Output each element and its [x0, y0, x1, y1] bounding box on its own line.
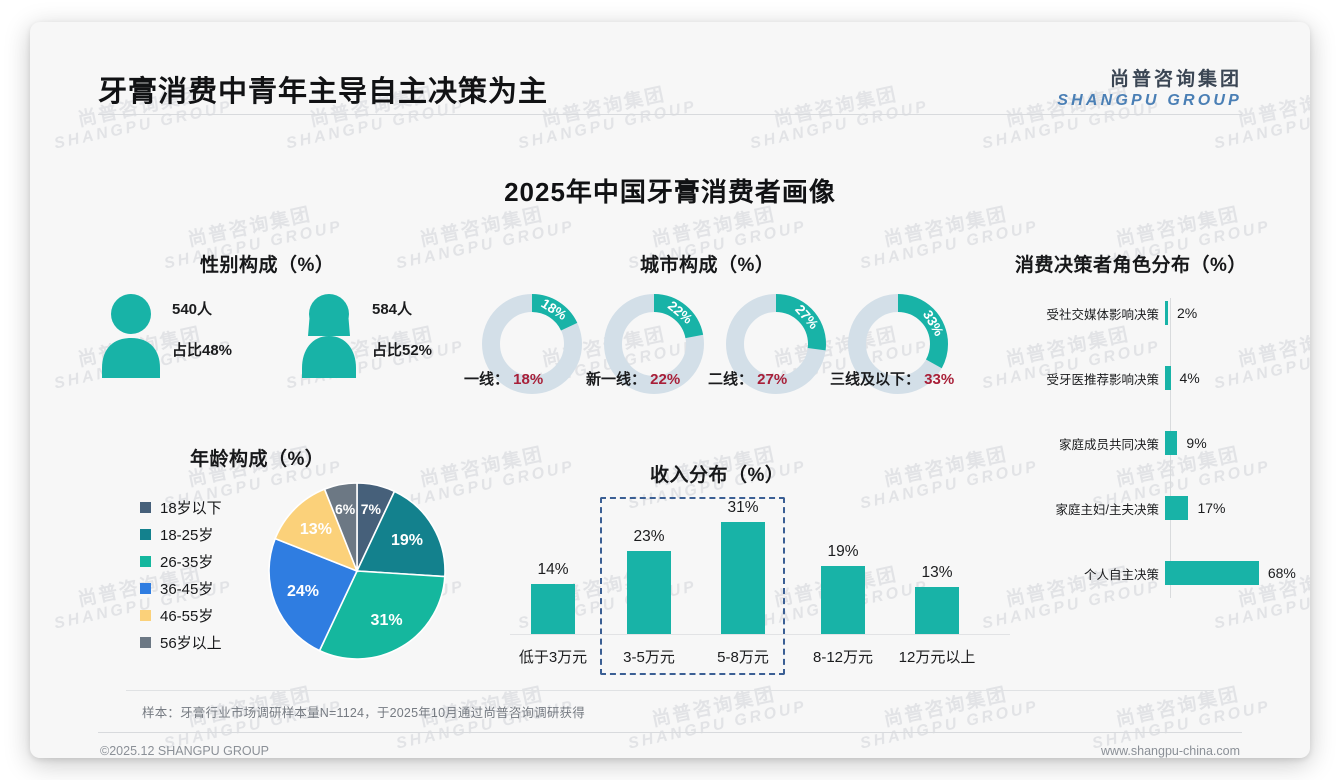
note-divider: [126, 690, 1214, 691]
role-value: 9%: [1186, 435, 1206, 451]
role-bar: [1165, 431, 1177, 455]
age-legend-item[interactable]: 36-45岁: [140, 575, 222, 602]
income-distribution-section: 收入分布（%） 14%低于3万元23%3-5万元31%5-8万元19%8-12万…: [485, 452, 1025, 687]
role-value: 68%: [1268, 565, 1296, 581]
legend-label: 18-25岁: [160, 524, 213, 545]
age-legend: 18岁以下18-25岁26-35岁36-45岁46-55岁56岁以上: [140, 494, 222, 656]
income-bar-category: 8-12万元: [793, 646, 893, 667]
city-percent: 27%: [753, 371, 787, 388]
legend-color-swatch: [140, 529, 151, 540]
website-link[interactable]: www.shangpu-china.com: [1101, 744, 1240, 758]
role-value: 17%: [1197, 500, 1225, 516]
income-baseline: [510, 634, 1010, 635]
copyright-text: ©2025.12 SHANGPU GROUP: [100, 744, 269, 758]
income-bar: [721, 522, 765, 634]
city-name: 三线及以下：: [830, 371, 920, 388]
sample-note: 样本：牙膏行业市场调研样本量N=1124，于2025年10月通过尚普咨询调研获得: [142, 702, 585, 721]
income-bar-value: 31%: [697, 499, 789, 517]
chart-subtitle: 2025年中国牙膏消费者画像: [30, 172, 1310, 209]
income-section-title: 收入分布（%）: [650, 460, 784, 487]
income-bar-column[interactable]: 31%: [697, 499, 789, 634]
city-donut-caption: 三线及以下： 33%: [830, 368, 954, 389]
city-donut-caption: 一线： 18%: [464, 368, 543, 389]
city-donut-caption: 新一线： 22%: [586, 368, 680, 389]
pie-slice-label: 13%: [300, 521, 332, 539]
age-composition-section: 年龄构成（%） 18岁以下18-25岁26-35岁36-45岁46-55岁56岁…: [100, 434, 480, 684]
city-percent: 18%: [509, 371, 543, 388]
age-legend-item[interactable]: 56岁以上: [140, 629, 222, 656]
income-bar-category: 5-8万元: [693, 646, 793, 667]
income-bar-value: 23%: [603, 528, 695, 546]
income-bar-value: 13%: [891, 564, 983, 582]
watermark: 尚普咨询集团SHANGPU GROUP: [1086, 674, 1273, 754]
gender-composition-section: 性别构成（%） 540人 占比48% 584人 占比52%: [100, 250, 460, 390]
income-bar-value: 14%: [507, 561, 599, 579]
role-bar: [1165, 366, 1171, 390]
income-bar: [627, 551, 671, 634]
male-stats: 540人 占比48%: [172, 298, 232, 360]
role-bar-row[interactable]: 个人自主决策68%: [1005, 560, 1305, 586]
role-label: 受社交媒体影响决策: [1005, 304, 1165, 323]
city-percent: 22%: [646, 371, 680, 388]
legend-color-swatch: [140, 502, 151, 513]
logo-english-text: SHANGPU GROUP: [1057, 92, 1242, 110]
income-bar-value: 19%: [797, 543, 889, 561]
role-bar-row[interactable]: 家庭主妇/主夫决策17%: [1005, 495, 1305, 521]
female-count: 584人: [372, 298, 432, 319]
legend-color-swatch: [140, 610, 151, 621]
city-donut-caption: 二线： 27%: [708, 368, 787, 389]
role-bar-row[interactable]: 受社交媒体影响决策2%: [1005, 300, 1305, 326]
role-bar: [1165, 301, 1168, 325]
slide-header: 牙膏消费中青年主导自主决策为主 尚普咨询集团 SHANGPU GROUP: [30, 22, 1310, 114]
age-pie-chart: 7%19%31%24%13%6%: [268, 482, 446, 665]
male-share: 占比48%: [172, 339, 232, 360]
footer-divider: [98, 732, 1242, 733]
role-label: 家庭成员共同决策: [1005, 434, 1165, 453]
city-name: 二线：: [708, 371, 753, 388]
age-legend-item[interactable]: 46-55岁: [140, 602, 222, 629]
income-bar-category: 低于3万元: [503, 646, 603, 667]
legend-label: 26-35岁: [160, 551, 213, 572]
income-bar: [821, 566, 865, 634]
role-value: 2%: [1177, 305, 1197, 321]
role-bar-row[interactable]: 受牙医推荐影响决策4%: [1005, 365, 1305, 391]
header-divider: [98, 114, 1242, 115]
income-bar-column[interactable]: 13%: [891, 564, 983, 634]
income-bar: [531, 584, 575, 634]
role-bar: [1165, 496, 1188, 520]
income-bar-column[interactable]: 19%: [797, 543, 889, 634]
age-legend-item[interactable]: 18岁以下: [140, 494, 222, 521]
role-label: 家庭主妇/主夫决策: [1005, 499, 1165, 518]
role-bar: [1165, 561, 1259, 585]
income-bar: [915, 587, 959, 634]
pie-slice-label: 7%: [361, 501, 381, 517]
role-bar-row[interactable]: 家庭成员共同决策9%: [1005, 430, 1305, 456]
brand-logo: 尚普咨询集团 SHANGPU GROUP: [1057, 64, 1242, 110]
legend-color-swatch: [140, 556, 151, 567]
male-count: 540人: [172, 298, 232, 319]
decision-role-section: 消费决策者角色分布（%） 受社交媒体影响决策2%受牙医推荐影响决策4%家庭成员共…: [1005, 250, 1305, 600]
gender-section-title: 性别构成（%）: [200, 250, 334, 277]
role-value: 4%: [1180, 370, 1200, 386]
city-percent: 33%: [920, 371, 954, 388]
female-person-icon: [296, 292, 362, 380]
male-person-icon: [100, 292, 162, 380]
pie-slice-label: 24%: [287, 583, 319, 601]
slide-page: 尚普咨询集团SHANGPU GROUP尚普咨询集团SHANGPU GROUP尚普…: [30, 22, 1310, 758]
legend-label: 36-45岁: [160, 578, 213, 599]
city-composition-section: 城市构成（%） 18%一线： 18%22%新一线： 22%27%二线： 27%3…: [460, 250, 1020, 395]
page-title: 牙膏消费中青年主导自主决策为主: [98, 68, 548, 110]
age-legend-item[interactable]: 26-35岁: [140, 548, 222, 575]
female-stats: 584人 占比52%: [372, 298, 432, 360]
pie-slice-label: 31%: [371, 612, 403, 630]
age-section-title: 年龄构成（%）: [190, 444, 324, 471]
income-bar-column[interactable]: 23%: [603, 528, 695, 634]
income-bar-column[interactable]: 14%: [507, 561, 599, 634]
legend-label: 56岁以上: [160, 632, 222, 653]
role-section-title: 消费决策者角色分布（%）: [1015, 250, 1247, 277]
income-bar-category: 3-5万元: [599, 646, 699, 667]
logo-chinese-text: 尚普咨询集团: [1057, 64, 1242, 91]
pie-slice-label: 19%: [391, 532, 423, 550]
city-name: 新一线：: [586, 371, 646, 388]
city-section-title: 城市构成（%）: [640, 250, 774, 277]
pie-slice-label: 6%: [335, 501, 355, 517]
city-name: 一线：: [464, 371, 509, 388]
legend-label: 46-55岁: [160, 605, 213, 626]
legend-color-swatch: [140, 637, 151, 648]
legend-color-swatch: [140, 583, 151, 594]
legend-label: 18岁以下: [160, 497, 222, 518]
female-share: 占比52%: [372, 339, 432, 360]
income-bar-category: 12万元以上: [887, 646, 987, 667]
age-legend-item[interactable]: 18-25岁: [140, 521, 222, 548]
role-label: 受牙医推荐影响决策: [1005, 369, 1165, 388]
role-label: 个人自主决策: [1005, 564, 1165, 583]
